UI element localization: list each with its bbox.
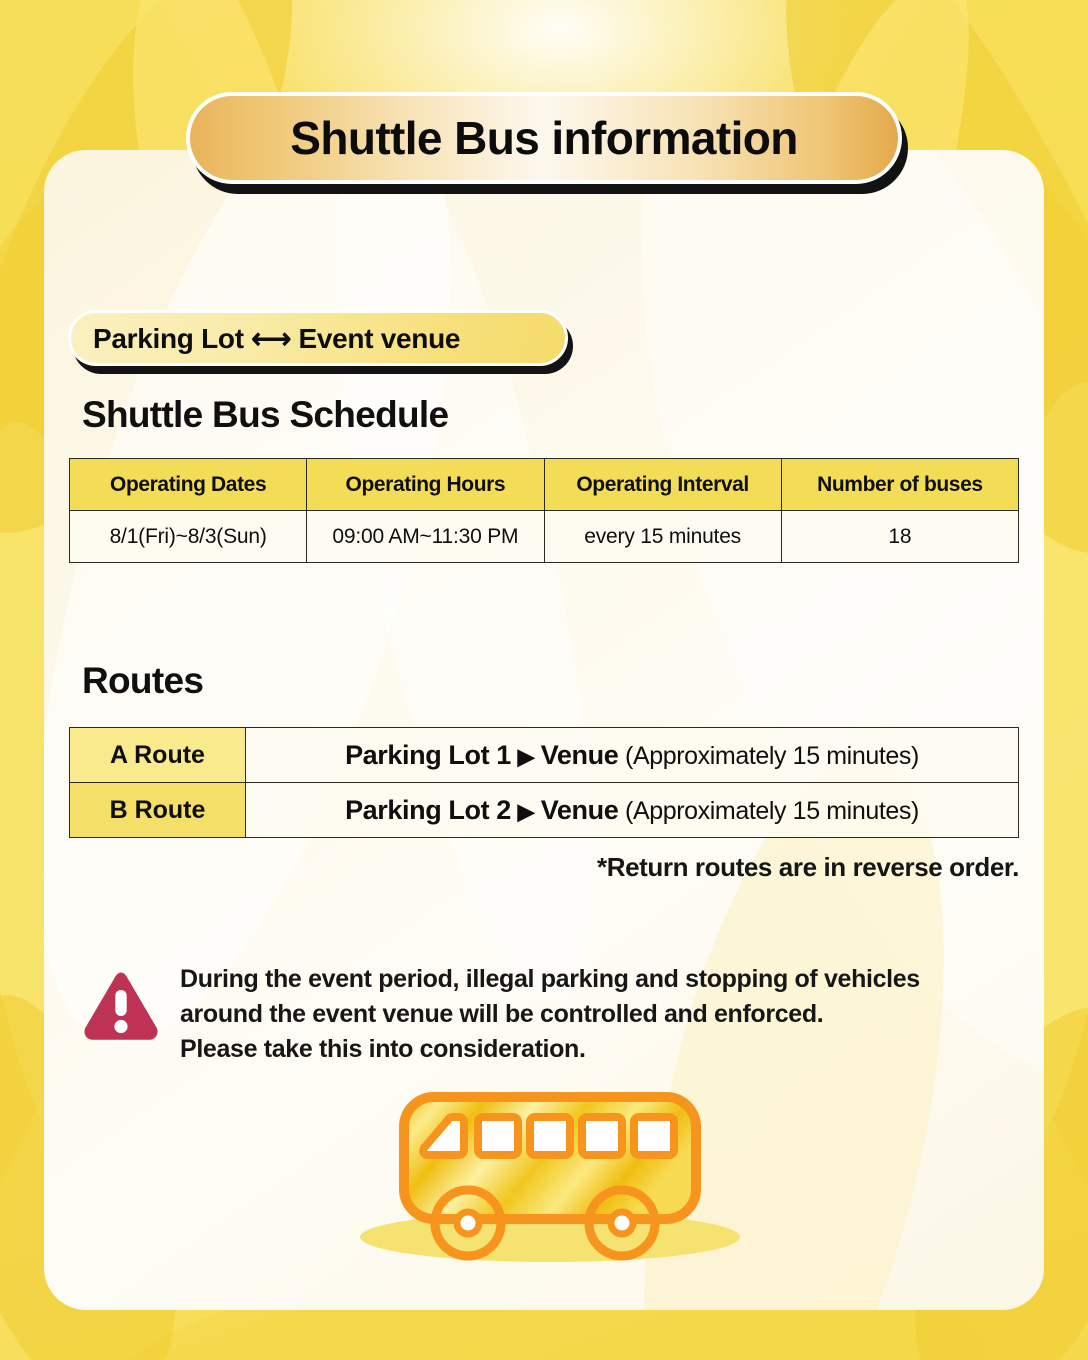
schedule-col-operating-dates: Operating Dates [70, 459, 307, 511]
route-direction-badge-label: Parking Lot ⟷ Event venue [93, 322, 460, 355]
schedule-heading: Shuttle Bus Schedule [82, 394, 448, 436]
schedule-cell-operating-hours: 09:00 AM~11:30 PM [307, 511, 544, 563]
schedule-cell-operating-interval: every 15 minutes [544, 511, 781, 563]
route-b-description: Parking Lot 2 ▶ Venue (Approximately 15 … [246, 783, 1019, 838]
schedule-table-row: 8/1(Fri)~8/3(Sun) 09:00 AM~11:30 PM ever… [70, 511, 1019, 563]
route-a-origin: Parking Lot 1 [345, 740, 511, 770]
route-b-destination: Venue [541, 795, 619, 825]
route-a-duration: (Approximately 15 minutes) [625, 742, 919, 770]
page-title-pill: Shuttle Bus information [186, 92, 902, 184]
route-a-label: A Route [70, 728, 246, 783]
parking-warning-text: During the event period, illegal parking… [180, 962, 920, 1067]
parking-warning-block: During the event period, illegal parking… [82, 962, 1032, 1067]
schedule-col-operating-interval: Operating Interval [544, 459, 781, 511]
schedule-cell-operating-dates: 8/1(Fri)~8/3(Sun) [70, 511, 307, 563]
warning-line-3: Please take this into consideration. [180, 1032, 920, 1067]
route-a-destination: Venue [541, 740, 619, 770]
routes-heading: Routes [82, 660, 203, 702]
schedule-col-operating-hours: Operating Hours [307, 459, 544, 511]
route-b-duration: (Approximately 15 minutes) [625, 797, 919, 825]
routes-table-row: B Route Parking Lot 2 ▶ Venue (Approxima… [70, 783, 1019, 838]
return-routes-footnote: *Return routes are in reverse order. [69, 852, 1019, 883]
page-title-banner: Shuttle Bus information [186, 92, 902, 188]
warning-triangle-icon [82, 970, 160, 1044]
warning-line-1: During the event period, illegal parking… [180, 962, 920, 997]
schedule-cell-number-of-buses: 18 [781, 511, 1018, 563]
page-title: Shuttle Bus information [290, 111, 798, 165]
schedule-col-number-of-buses: Number of buses [781, 459, 1018, 511]
shuttle-bus-schedule-table: Operating Dates Operating Hours Operatin… [69, 458, 1019, 563]
arrow-right-icon: ▶ [518, 799, 535, 824]
shuttle-bus-icon [350, 1085, 750, 1270]
routes-table-row: A Route Parking Lot 1 ▶ Venue (Approxima… [70, 728, 1019, 783]
schedule-table-header-row: Operating Dates Operating Hours Operatin… [70, 459, 1019, 511]
shuttle-bus-information-poster: Shuttle Bus information Parking Lot ⟷ Ev… [0, 0, 1088, 1360]
routes-table: A Route Parking Lot 1 ▶ Venue (Approxima… [69, 727, 1019, 838]
route-a-description: Parking Lot 1 ▶ Venue (Approximately 15 … [246, 728, 1019, 783]
arrow-right-icon: ▶ [518, 744, 535, 769]
warning-line-2: around the event venue will be controlle… [180, 997, 920, 1032]
route-direction-badge-body: Parking Lot ⟷ Event venue [68, 310, 568, 366]
route-b-label: B Route [70, 783, 246, 838]
route-direction-badge: Parking Lot ⟷ Event venue [68, 310, 568, 366]
route-b-origin: Parking Lot 2 [345, 795, 511, 825]
